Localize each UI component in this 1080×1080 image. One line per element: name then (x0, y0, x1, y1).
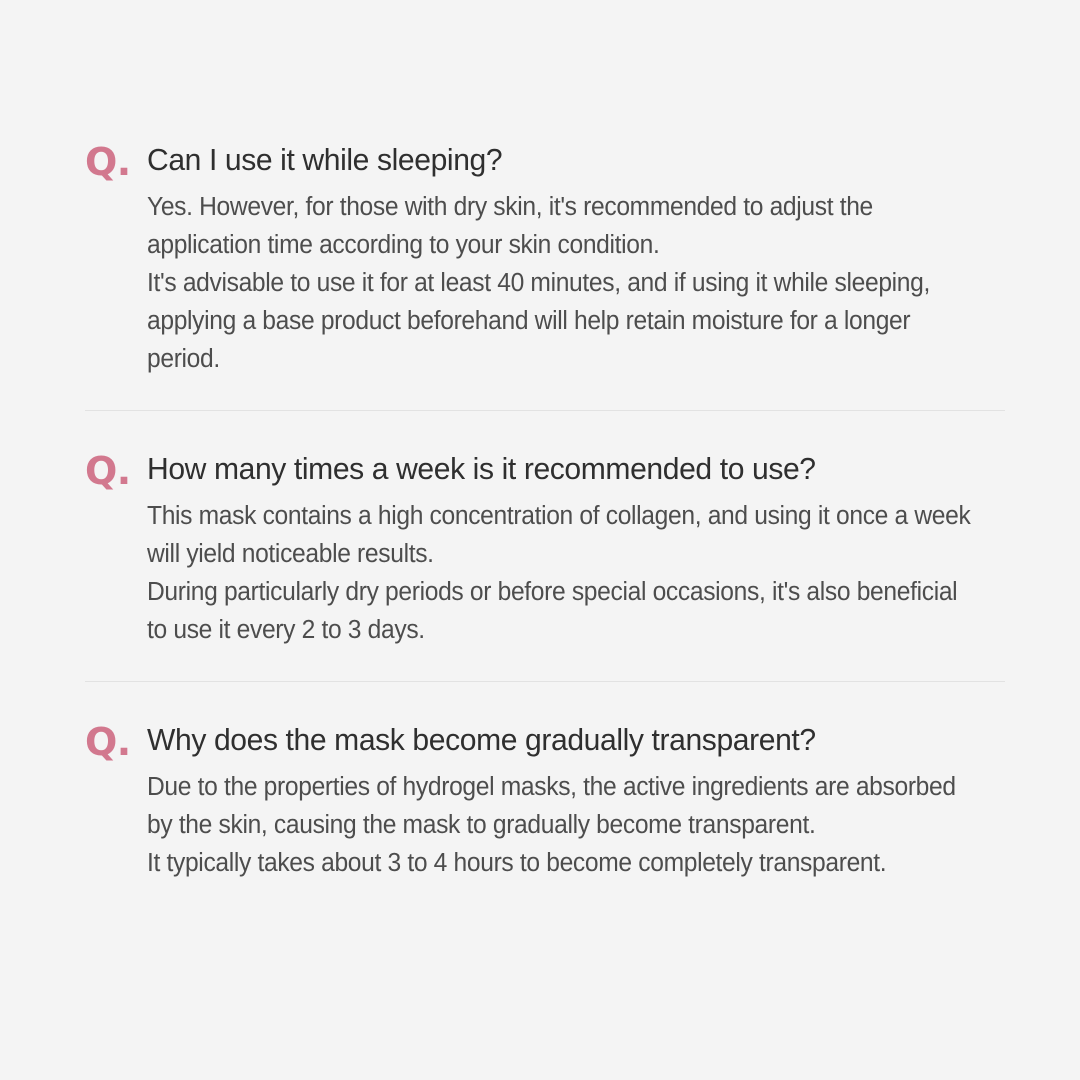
faq-item[interactable]: Q. How many times a week is it recommend… (85, 449, 1005, 649)
faq-answer-paragraph: Yes. However, for those with dry skin, i… (147, 188, 975, 264)
faq-question: Can I use it while sleeping? (147, 140, 979, 180)
faq-item-body: How many times a week is it recommended … (147, 449, 1005, 649)
faq-answer-paragraph: It's advisable to use it for at least 40… (147, 264, 975, 378)
faq-answer: Due to the properties of hydrogel masks,… (147, 768, 975, 882)
spacer (85, 378, 1005, 410)
faq-answer-paragraph: Due to the properties of hydrogel masks,… (147, 768, 975, 844)
faq-list: Q. Can I use it while sleeping? Yes. How… (85, 140, 1005, 882)
faq-item[interactable]: Q. Can I use it while sleeping? Yes. How… (85, 140, 1005, 378)
faq-answer: This mask contains a high concentration … (147, 497, 975, 649)
spacer (85, 411, 1005, 449)
faq-item-body: Why does the mask become gradually trans… (147, 720, 1005, 882)
question-marker-icon: Q. (85, 140, 147, 184)
faq-answer-paragraph: This mask contains a high concentration … (147, 497, 975, 573)
question-marker-icon: Q. (85, 720, 147, 764)
faq-answer-paragraph: During particularly dry periods or befor… (147, 573, 975, 649)
faq-page: Q. Can I use it while sleeping? Yes. How… (0, 0, 1080, 1080)
faq-item-body: Can I use it while sleeping? Yes. Howeve… (147, 140, 1005, 378)
faq-answer-paragraph: It typically takes about 3 to 4 hours to… (147, 844, 975, 882)
spacer (85, 649, 1005, 681)
faq-item[interactable]: Q. Why does the mask become gradually tr… (85, 720, 1005, 882)
faq-question: Why does the mask become gradually trans… (147, 720, 979, 760)
spacer (85, 682, 1005, 720)
faq-answer: Yes. However, for those with dry skin, i… (147, 188, 975, 378)
faq-question: How many times a week is it recommended … (147, 449, 979, 489)
question-marker-icon: Q. (85, 449, 147, 493)
